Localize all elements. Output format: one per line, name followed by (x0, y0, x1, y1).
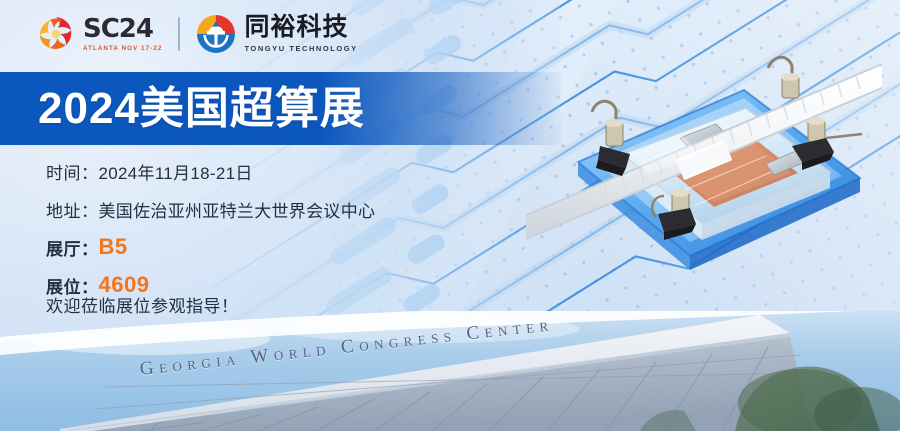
tongyu-emblem-icon (196, 14, 236, 54)
info-row-address: 地址： 美国佐治亚州亚特兰大世界会议中心 (46, 190, 526, 228)
logo-divider (178, 17, 180, 51)
sc24-subtitle: ATLANTA NOV 17-22 (83, 45, 162, 52)
event-info-list: 时间： 2024年11月18-21日 地址： 美国佐治亚州亚特兰大世界会议中心 … (46, 152, 526, 304)
logo-bar: SC24 ATLANTA NOV 17-22 同裕科技 TO (0, 0, 900, 68)
info-value-address: 美国佐治亚州亚特兰大世界会议中心 (99, 197, 376, 222)
info-value-time: 2024年11月18-21日 (99, 159, 253, 184)
sc24-word: SC24 (83, 16, 162, 42)
info-label-time: 时间： (46, 159, 99, 184)
info-label-address: 地址： (46, 197, 99, 222)
tongyu-name-cn: 同裕科技 (244, 15, 357, 40)
info-label-hall: 展厅： (46, 235, 99, 260)
tongyu-wordmark: 同裕科技 TONGYU TECHNOLOGY (244, 15, 357, 53)
liquid-cooling-cold-plate-image (526, 34, 882, 334)
georgia-world-congress-center-photo: Georgia World Congress Center (0, 311, 900, 431)
event-banner: 2024美国超算展 SC24 ATL (0, 0, 900, 431)
tongyu-name-en: TONGYU TECHNOLOGY (244, 44, 357, 53)
info-row-time: 时间： 2024年11月18-21日 (46, 152, 526, 190)
logo-group: SC24 ATLANTA NOV 17-22 同裕科技 TO (36, 14, 358, 54)
sc24-flame-icon (36, 14, 76, 54)
sc24-wordmark: SC24 ATLANTA NOV 17-22 (83, 16, 162, 52)
page-title: 2024美国超算展 (38, 78, 365, 140)
info-row-hall: 展厅： B5 (46, 228, 526, 266)
info-value-hall: B5 (99, 234, 128, 260)
